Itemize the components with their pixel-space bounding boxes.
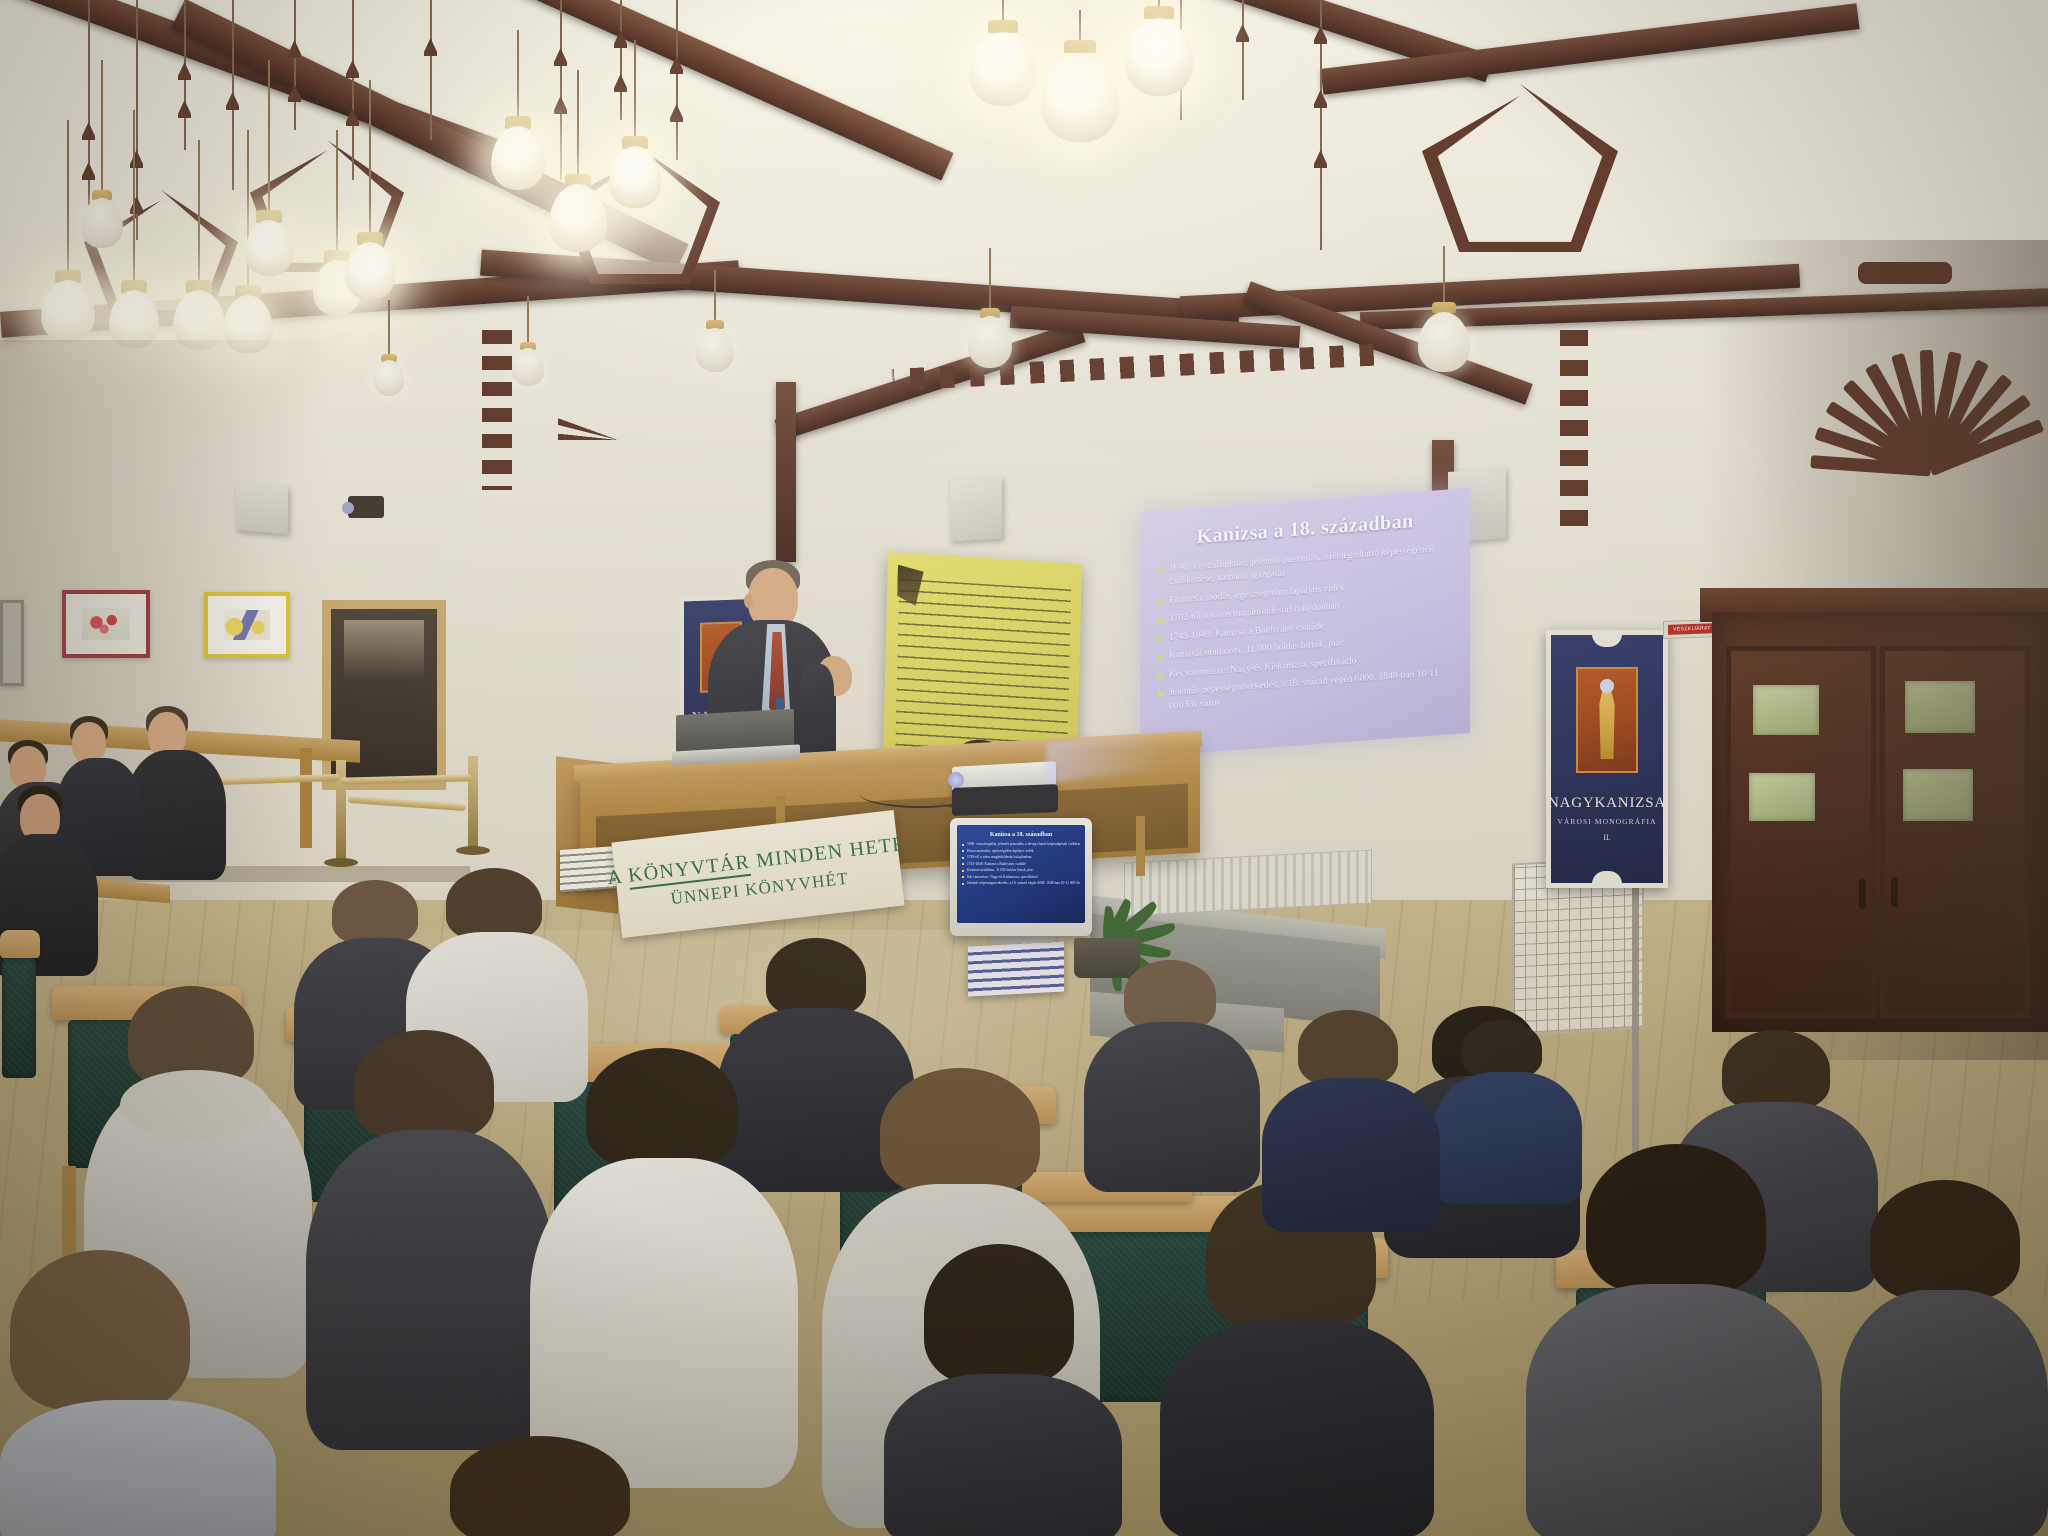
tv-slide-title: Kanizsa a 18. században bbox=[962, 832, 1080, 838]
poster-notch-bottom bbox=[1592, 871, 1622, 884]
pendant-lamp-13 bbox=[1040, 10, 1120, 230]
audience-member-front-2 bbox=[306, 1030, 556, 1450]
audience-top bbox=[884, 1374, 1122, 1536]
audience-hair bbox=[880, 1068, 1040, 1194]
tv-slide-bullet: 1702-től a város magánföldesúri tulajdon… bbox=[962, 855, 1080, 861]
audience-hair bbox=[1870, 1180, 2020, 1300]
audience-hair bbox=[1124, 960, 1216, 1030]
pendant-lamp-18 bbox=[966, 248, 1014, 398]
stacked-books-on-table bbox=[968, 941, 1064, 996]
slide-bullet-list: 1690: visszafoglalás, jelentős pusztulás… bbox=[1156, 542, 1454, 715]
pendant-lamp-14 bbox=[1124, 0, 1194, 170]
nagykanizsa-monograph-poster: NAGYKANIZSA VÁROSI MONOGRÁFIA II. bbox=[1546, 630, 1668, 888]
audience-member-front-9 bbox=[884, 1244, 1124, 1536]
hoodie-hood bbox=[120, 1070, 270, 1140]
audience-hair bbox=[924, 1244, 1074, 1384]
dark-equipment-case bbox=[952, 784, 1058, 816]
audience-member-front-8 bbox=[0, 1250, 280, 1536]
audience-member-front-6 bbox=[1526, 1144, 1826, 1536]
lecture-hall-photo: Kanizsa a 18. században 1690: visszafogl… bbox=[0, 0, 2048, 1536]
stanchion-base bbox=[324, 858, 358, 867]
poster-volume: II. bbox=[1603, 833, 1610, 842]
pendant-lamp-4 bbox=[172, 140, 226, 360]
audience-hair bbox=[1298, 1010, 1398, 1086]
audience-member-mid-right bbox=[1262, 1010, 1442, 1230]
audience-jacket bbox=[306, 1130, 554, 1450]
presenter-ear bbox=[744, 594, 753, 608]
audience-top bbox=[1840, 1290, 2048, 1536]
audience-hair bbox=[586, 1048, 738, 1168]
table-leg bbox=[300, 748, 312, 848]
projection-screen: Kanizsa a 18. században 1690: visszafogl… bbox=[1140, 488, 1470, 757]
pendant-lamp-11 bbox=[608, 40, 662, 240]
banner-suffix: MINDEN HETE bbox=[749, 832, 907, 872]
audience-hair bbox=[1586, 1144, 1766, 1294]
carved-fan-ornament-gable-left bbox=[700, 420, 800, 516]
stanchion-base bbox=[456, 846, 490, 855]
audience-hair bbox=[1722, 1030, 1830, 1110]
wall-speaker-center bbox=[950, 477, 1002, 542]
audience-top bbox=[1160, 1320, 1434, 1536]
carved-column-ornament-left bbox=[482, 330, 512, 490]
audience-member-front-7 bbox=[420, 1436, 680, 1536]
poster-subtitle: VÁROSI MONOGRÁFIA bbox=[1557, 817, 1656, 826]
podium-divider-right bbox=[1136, 816, 1145, 877]
pendant-lamp-12 bbox=[970, 0, 1036, 180]
audience-torso bbox=[1084, 1022, 1260, 1192]
chair[interactable] bbox=[0, 930, 40, 1120]
pendant-lamp-17 bbox=[694, 270, 736, 410]
audience-hair bbox=[446, 868, 542, 940]
audience-member-front-3 bbox=[530, 1048, 800, 1488]
carved-fan-ornament-left bbox=[558, 330, 678, 440]
pendant-lamp-8 bbox=[344, 80, 396, 280]
pendant-lamp-9 bbox=[490, 30, 546, 230]
audience-member-far-right bbox=[1840, 1180, 2048, 1536]
rope-stanchion-2 bbox=[468, 756, 478, 852]
tv-slide-bullet: Elmocsarasodás, egészségtelen lapályos v… bbox=[962, 849, 1080, 855]
carved-column-ornament-right bbox=[1560, 330, 1588, 530]
poster-title: NAGYKANIZSA bbox=[1548, 795, 1666, 812]
audience-hair bbox=[766, 938, 866, 1016]
pendant-lamp-15 bbox=[372, 300, 406, 430]
poster-figure bbox=[1591, 685, 1623, 759]
presenter-sleeve bbox=[800, 664, 834, 728]
audience-top bbox=[1526, 1284, 1822, 1536]
audience-top bbox=[1262, 1078, 1440, 1232]
projector-lens-icon bbox=[342, 502, 354, 514]
pendant-lamp-10 bbox=[548, 70, 608, 280]
audience-hair bbox=[354, 1030, 494, 1140]
pendant-lamp-3 bbox=[80, 60, 124, 260]
pendant-lamp-16 bbox=[510, 296, 546, 426]
manuscript-text-lines bbox=[895, 579, 1071, 760]
audience-hair bbox=[1462, 1020, 1542, 1078]
poster-notch-top bbox=[1592, 634, 1622, 647]
audience-top bbox=[0, 1400, 276, 1536]
right-wall-shading bbox=[1700, 240, 2048, 1060]
audience-member-front-5 bbox=[1156, 1180, 1436, 1536]
pendant-lamp-19 bbox=[1416, 246, 1472, 406]
banner-prefix: A bbox=[606, 865, 629, 889]
tv-slide-bullet: Kanizsai uradalom, 31 000 holdas birtok,… bbox=[962, 868, 1080, 874]
audience-hair bbox=[450, 1436, 630, 1536]
pendant-lamp-6 bbox=[244, 60, 294, 260]
audience-member-row2-4 bbox=[1080, 960, 1260, 1190]
tv-slide-bullet: 1690: visszafoglalás, jelentős pusztulás… bbox=[962, 842, 1080, 848]
audience-hair bbox=[10, 1250, 190, 1410]
poster-illustration bbox=[1576, 667, 1638, 773]
tv-slide-bullet: 1743-1848: Kanizsa a Batthyány családé bbox=[962, 862, 1080, 868]
poster-figure-head bbox=[1600, 679, 1614, 693]
